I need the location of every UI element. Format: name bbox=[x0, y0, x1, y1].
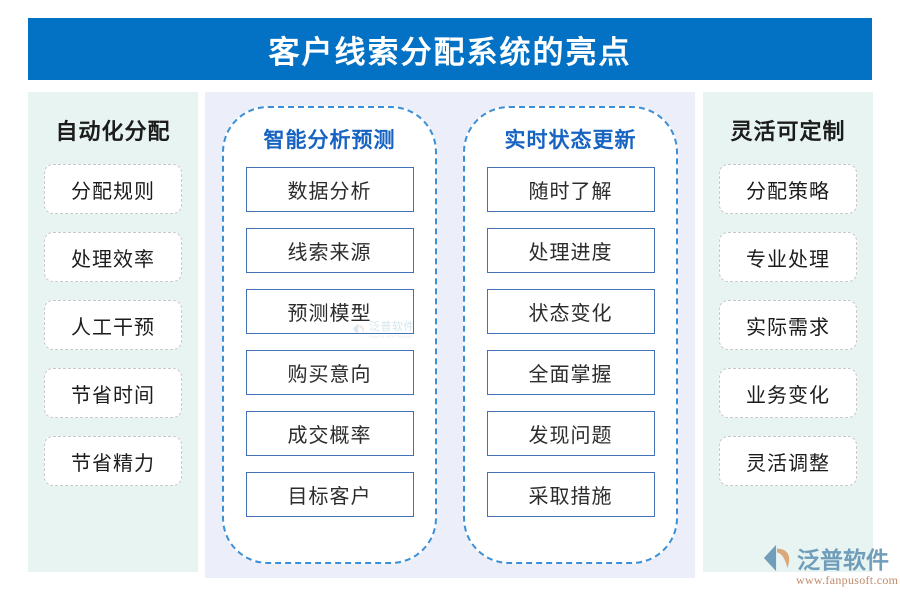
feature-card[interactable]: 购买意向 bbox=[246, 350, 414, 395]
feature-card[interactable]: 专业处理 bbox=[719, 232, 857, 282]
columns-board: 智能分析预测 数据分析 线索来源 预测模型 购买意向 成交概率 目标客户 实时状… bbox=[0, 0, 900, 600]
feature-card[interactable]: 全面掌握 bbox=[487, 350, 655, 395]
feature-card[interactable]: 目标客户 bbox=[246, 472, 414, 517]
feature-card[interactable]: 灵活调整 bbox=[719, 436, 857, 486]
center-panel: 智能分析预测 数据分析 线索来源 预测模型 购买意向 成交概率 目标客户 实时状… bbox=[205, 92, 695, 578]
column-title: 自动化分配 bbox=[55, 114, 170, 146]
infographic-page: 客户线索分配系统的亮点 智能分析预测 数据分析 线索来源 预测模型 购买意向 成… bbox=[0, 0, 900, 600]
feature-card[interactable]: 实际需求 bbox=[719, 300, 857, 350]
column-flexible-customizable: 灵活可定制 分配策略 专业处理 实际需求 业务变化 灵活调整 bbox=[703, 92, 873, 572]
column-title: 智能分析预测 bbox=[264, 124, 396, 154]
feature-card[interactable]: 预测模型 bbox=[246, 289, 414, 334]
fanpu-logo-icon bbox=[762, 544, 792, 572]
feature-card[interactable]: 成交概率 bbox=[246, 411, 414, 456]
column-automated-allocation: 自动化分配 分配规则 处理效率 人工干预 节省时间 节省精力 bbox=[28, 92, 198, 572]
logo-url: www.fanpusoft.com bbox=[796, 573, 898, 588]
column-title: 实时状态更新 bbox=[505, 124, 637, 154]
column-title: 灵活可定制 bbox=[730, 114, 845, 146]
feature-card[interactable]: 人工干预 bbox=[44, 300, 182, 350]
feature-card[interactable]: 业务变化 bbox=[719, 368, 857, 418]
feature-card[interactable]: 节省精力 bbox=[44, 436, 182, 486]
column-smart-analysis-prediction: 智能分析预测 数据分析 线索来源 预测模型 购买意向 成交概率 目标客户 bbox=[222, 106, 437, 564]
feature-card[interactable]: 节省时间 bbox=[44, 368, 182, 418]
feature-card[interactable]: 分配规则 bbox=[44, 164, 182, 214]
feature-card[interactable]: 分配策略 bbox=[719, 164, 857, 214]
column-realtime-status-update: 实时状态更新 随时了解 处理进度 状态变化 全面掌握 发现问题 采取措施 bbox=[463, 106, 678, 564]
feature-card[interactable]: 发现问题 bbox=[487, 411, 655, 456]
feature-card[interactable]: 处理进度 bbox=[487, 228, 655, 273]
brand-logo: 泛普软件 www.fanpusoft.com bbox=[762, 541, 898, 588]
feature-card[interactable]: 随时了解 bbox=[487, 167, 655, 212]
feature-card[interactable]: 线索来源 bbox=[246, 228, 414, 273]
logo-row: 泛普软件 bbox=[762, 541, 889, 575]
feature-card[interactable]: 采取措施 bbox=[487, 472, 655, 517]
feature-card[interactable]: 状态变化 bbox=[487, 289, 655, 334]
logo-brand-cn: 泛普软件 bbox=[797, 541, 889, 575]
feature-card[interactable]: 处理效率 bbox=[44, 232, 182, 282]
feature-card[interactable]: 数据分析 bbox=[246, 167, 414, 212]
